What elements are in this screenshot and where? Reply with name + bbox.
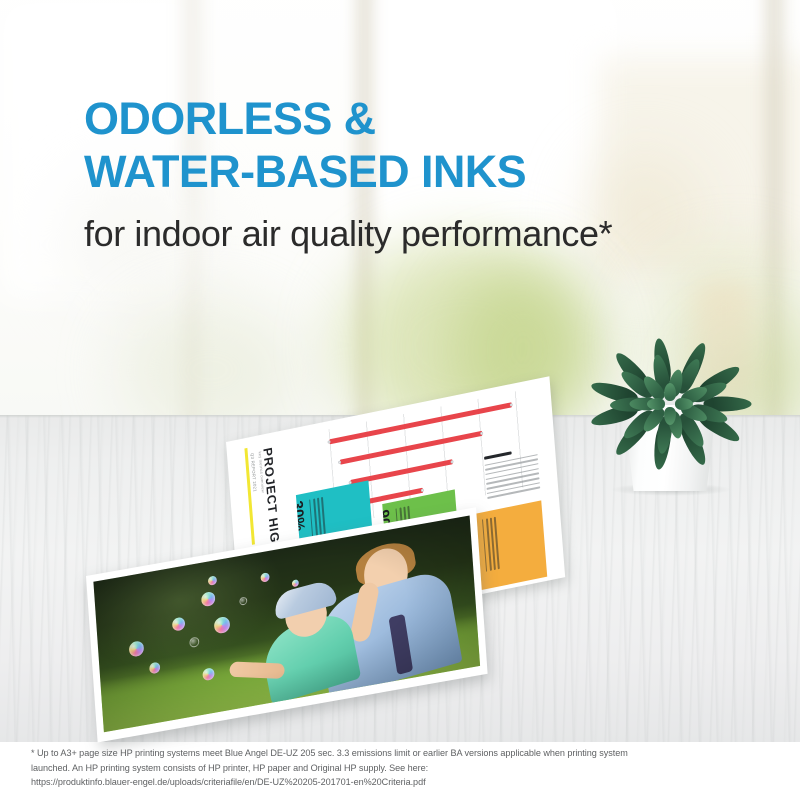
footnote-url: https://produktinfo.blauer-engel.de/uplo… [31, 775, 773, 790]
footnote-line-1: * Up to A3+ page size HP printing system… [31, 746, 773, 761]
marketing-poster: Q3 REPORT 2021 key metrics overview PROJ… [0, 0, 800, 800]
succulent-leaf [664, 383, 676, 401]
document-eyebrow: Q3 REPORT 2021 [250, 452, 258, 492]
headline-line-2: WATER-BASED INKS [84, 145, 744, 198]
succulent-plant [588, 300, 768, 500]
footnote-line-2: launched. An HP printing system consists… [31, 761, 773, 776]
document-text-column [484, 446, 540, 502]
page-title: ODORLESS & WATER-BASED INKS [84, 92, 744, 198]
orange-stat-caption [479, 517, 500, 573]
footnote: * Up to A3+ page size HP printing system… [31, 746, 773, 790]
teal-stat-percent: 30% [296, 499, 308, 533]
succulent-leaf [647, 398, 665, 410]
headline-line-1: ODORLESS & [84, 93, 376, 144]
subheadline: for indoor air quality performance* [84, 214, 764, 254]
